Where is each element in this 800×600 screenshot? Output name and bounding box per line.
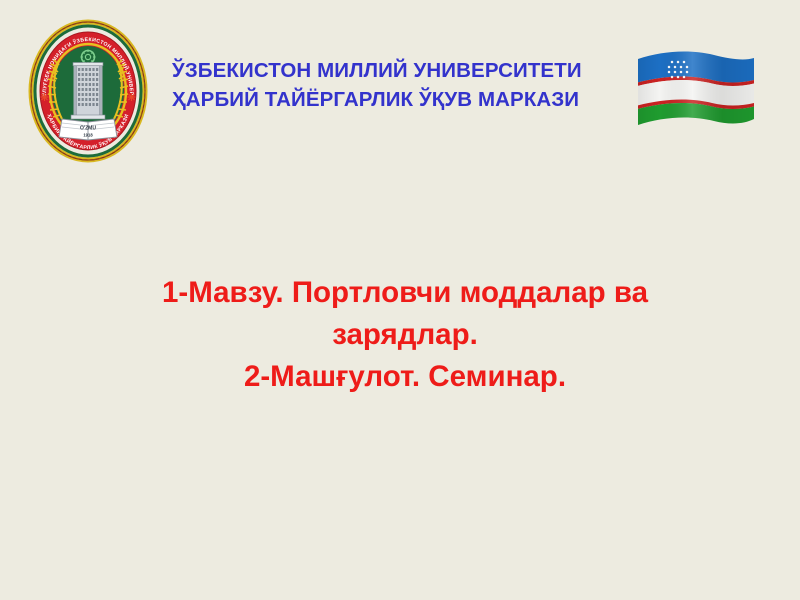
uzbekistan-flag	[632, 45, 758, 140]
presentation-slide: МИРЗО УЛУҒБЕК НОМИДАГИ ЎЗБЕКИСТОН МИЛЛИЙ…	[0, 0, 800, 600]
slide-title-line-3: 2-Машғулот. Семинар.	[120, 356, 690, 398]
slide-title: 1-Мавзу. Портловчи моддалар ва зарядлар.…	[120, 272, 690, 398]
emblem-book-year: 1918	[83, 133, 93, 138]
university-emblem: МИРЗО УЛУҒБЕК НОМИДАГИ ЎЗБЕКИСТОН МИЛЛИЙ…	[28, 19, 148, 163]
slide-title-line-2: зарядлар.	[120, 314, 690, 356]
header-line-2: ҲАРБИЙ ТАЙЁРГАРЛИК ЎҚУВ МАРКАЗИ	[172, 85, 624, 114]
slide-title-line-1: 1-Мавзу. Портловчи моддалар ва	[120, 272, 690, 314]
emblem-open-book: O'ZMU 1918	[59, 119, 117, 140]
organization-header: ЎЗБЕКИСТОН МИЛЛИЙ УНИВЕРСИТЕТИ ҲАРБИЙ ТА…	[172, 56, 624, 114]
emblem-book-text: O'ZMU	[80, 126, 96, 132]
emblem-star-burst-right	[128, 93, 136, 101]
header-line-1: ЎЗБЕКИСТОН МИЛЛИЙ УНИВЕРСИТЕТИ	[172, 56, 624, 85]
emblem-star-burst-left	[41, 93, 49, 101]
emblem-university-building	[71, 63, 105, 120]
